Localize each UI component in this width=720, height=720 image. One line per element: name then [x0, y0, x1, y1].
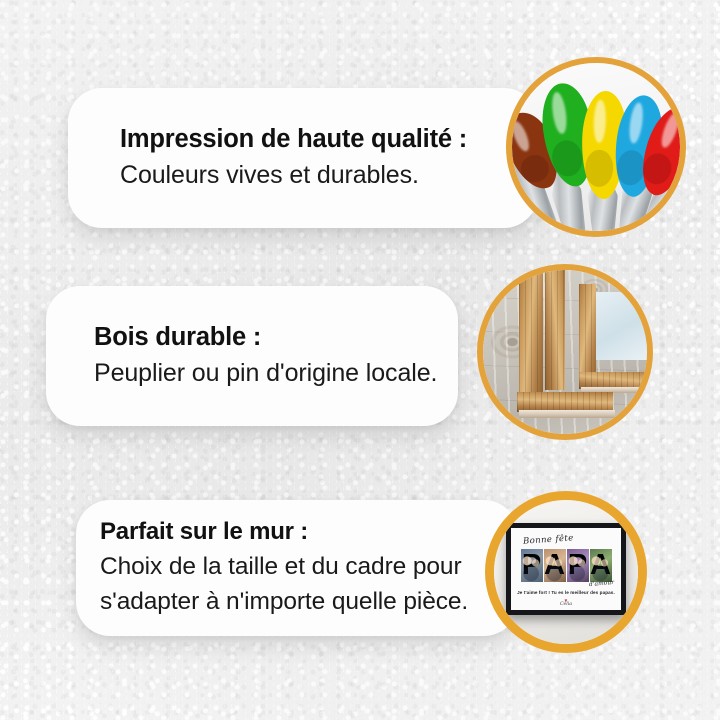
card-title: Bois durable :	[94, 322, 440, 353]
card-subtitle-line-1: Choix de la taille et du cadre pour	[100, 550, 500, 585]
card-body: Parfait sur le mur : Choix de la taille …	[76, 517, 518, 620]
framed-poster-photo: Bonne fête P A P A d'amour	[485, 491, 647, 653]
card-body: Impression de haute qualité : Couleurs v…	[68, 124, 538, 192]
poster-script-bottom: d'amour	[588, 579, 614, 588]
feature-card-durable-wood: Bois durable : Peuplier ou pin d'origine…	[46, 286, 458, 426]
collage-letter-glyph: A	[544, 549, 566, 582]
frame-glass	[587, 292, 651, 360]
collage-letter: A	[590, 549, 612, 582]
poster-artwork: Bonne fête P A P A d'amour	[511, 528, 622, 610]
poster-photo-collage-word: P A P A	[521, 549, 612, 582]
card-subtitle-line-2: s'adapter à n'importe quelle pièce.	[100, 585, 500, 620]
card-subtitle: Peuplier ou pin d'origine locale.	[94, 358, 440, 390]
collage-letter: P	[567, 549, 589, 582]
collage-letter-glyph: A	[590, 549, 612, 582]
frame-lip	[519, 410, 615, 418]
frame-rail-vertical	[545, 266, 565, 390]
poster-scene: Bonne fête P A P A d'amour	[494, 500, 638, 644]
card-body: Bois durable : Peuplier ou pin d'origine…	[46, 322, 458, 390]
poster-script-top: Bonne fête	[522, 534, 573, 548]
feature-card-print-quality: Impression de haute qualité : Couleurs v…	[68, 88, 538, 228]
card-title: Impression de haute qualité :	[120, 124, 520, 155]
frame-rail-vertical	[519, 270, 543, 398]
wooden-frames-photo	[477, 264, 653, 440]
poster-signature: Célia	[511, 602, 622, 607]
poster-caption: Je t'aime fort ! Tu es le meilleur des p…	[511, 590, 622, 595]
card-subtitle: Couleurs vives et durables.	[120, 160, 520, 192]
collage-letter-glyph: P	[567, 549, 589, 582]
poster-black-frame: Bonne fête P A P A d'amour	[506, 523, 627, 615]
wood-plank-background	[483, 270, 647, 434]
paint-tubes-photo	[506, 57, 686, 237]
feature-card-perfect-on-wall: Parfait sur le mur : Choix de la taille …	[76, 500, 518, 636]
collage-letter-glyph: P	[521, 549, 543, 582]
paint-tubes-scene	[512, 63, 680, 231]
collage-letter: P	[521, 549, 543, 582]
collage-letter: A	[544, 549, 566, 582]
card-title: Parfait sur le mur :	[100, 517, 500, 546]
frame-rail-horizontal	[517, 392, 613, 412]
